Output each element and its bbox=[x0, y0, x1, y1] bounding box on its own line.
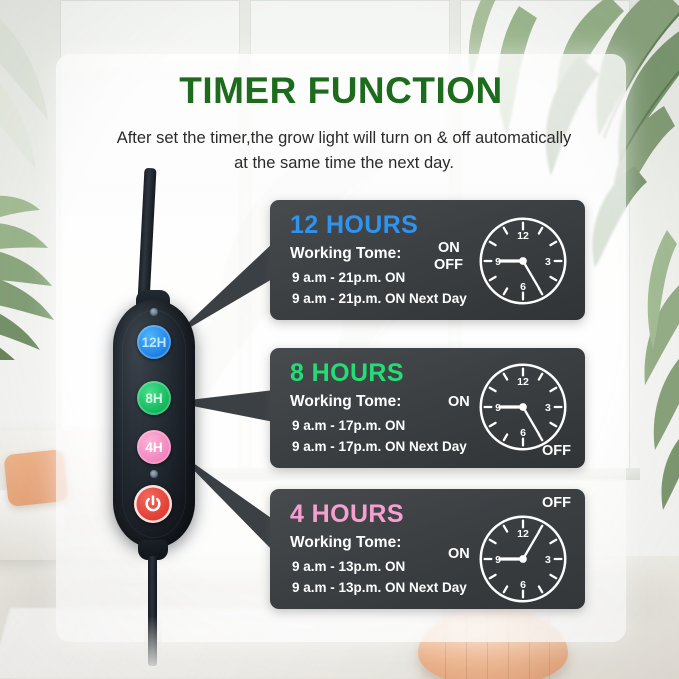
info-panel-4h: 4 HOURS Working Tome: 9 a.m - 13p.m. ON … bbox=[270, 489, 585, 609]
power-button[interactable] bbox=[134, 485, 172, 523]
panel-working-label: Working Tome: bbox=[290, 534, 401, 552]
cord-fade bbox=[144, 616, 162, 672]
panel-on-label: ON bbox=[448, 546, 470, 562]
indicator-led-bottom bbox=[150, 470, 158, 478]
panel-heading: 8 HOURS bbox=[290, 359, 404, 388]
clock-numeral-12: 12 bbox=[517, 376, 529, 388]
panel-line-1: 9 a.m - 17p.m. ON bbox=[292, 418, 405, 433]
clock-numeral-12: 12 bbox=[517, 528, 529, 540]
panel-line-2: 9 a.m - 13p.m. ON Next Day bbox=[292, 580, 467, 595]
subtitle-line-2: at the same time the next day. bbox=[234, 154, 454, 172]
button-8h-label: 8H bbox=[145, 391, 162, 406]
clock-face-4h: 12 3 6 9 bbox=[475, 511, 571, 607]
button-12h[interactable]: 12H bbox=[137, 325, 171, 359]
clock-center-pin bbox=[519, 555, 527, 563]
panel-on-label: ON bbox=[438, 240, 460, 256]
power-icon bbox=[143, 494, 163, 514]
clock-numeral-6: 6 bbox=[520, 427, 526, 439]
clock-numeral-3: 3 bbox=[545, 402, 551, 414]
clock-numeral-12: 12 bbox=[517, 230, 529, 242]
subtitle-line-1: After set the timer,the grow light will … bbox=[117, 129, 572, 147]
button-12h-label: 12H bbox=[142, 335, 167, 350]
panel-line-1: 9 a.m - 13p.m. ON bbox=[292, 559, 405, 574]
panel-line-1: 9 a.m - 21p.m. ON bbox=[292, 270, 405, 285]
clock-numeral-3: 3 bbox=[545, 256, 551, 268]
clock-center-pin bbox=[519, 257, 527, 265]
panel-working-label: Working Tome: bbox=[290, 393, 401, 411]
info-panel-12h: 12 HOURS Working Tome: 9 a.m - 21p.m. ON… bbox=[270, 200, 585, 320]
clock-numeral-6: 6 bbox=[520, 281, 526, 293]
panel-heading: 4 HOURS bbox=[290, 500, 404, 529]
page-title: TIMER FUNCTION bbox=[56, 70, 626, 112]
clock-face-8h: 12 3 6 9 bbox=[475, 359, 571, 455]
clock-center-pin bbox=[519, 403, 527, 411]
clock-numeral-6: 6 bbox=[520, 579, 526, 591]
info-panel-8h: 8 HOURS Working Tome: 9 a.m - 17p.m. ON … bbox=[270, 348, 585, 468]
clock-numeral-3: 3 bbox=[545, 554, 551, 566]
panel-off-label: OFF bbox=[542, 495, 571, 511]
panel-line-2: 9 a.m - 17p.m. ON Next Day bbox=[292, 439, 467, 454]
panel-on-label: ON bbox=[448, 394, 470, 410]
panel-line-2: 9 a.m - 21p.m. ON Next Day bbox=[292, 291, 467, 306]
panel-off-label: OFF bbox=[434, 257, 463, 273]
panel-heading: 12 HOURS bbox=[290, 211, 418, 240]
clock-face-12h: 12 3 6 9 bbox=[475, 213, 571, 309]
indicator-led-top bbox=[150, 308, 158, 316]
screenshot-stage: TIMER FUNCTION After set the timer,the g… bbox=[0, 0, 679, 679]
button-4h[interactable]: 4H bbox=[137, 430, 171, 464]
button-8h[interactable]: 8H bbox=[137, 381, 171, 415]
panel-working-label: Working Tome: bbox=[290, 245, 401, 263]
button-4h-label: 4H bbox=[145, 440, 162, 455]
